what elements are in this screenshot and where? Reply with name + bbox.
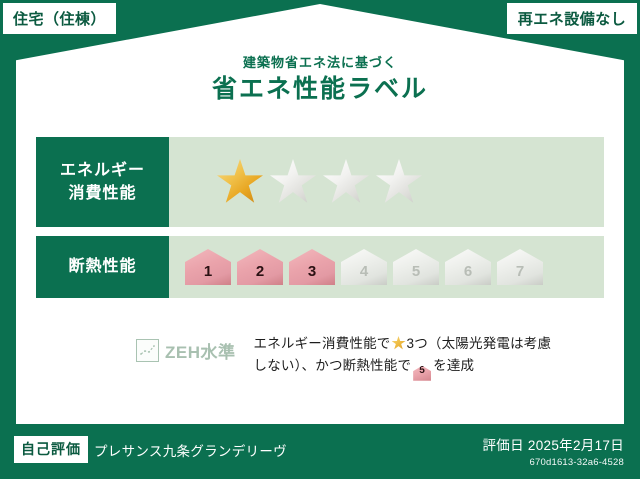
tab-renewable-energy: 再エネ設備なし <box>507 3 637 34</box>
energy-rating-stars <box>169 137 604 227</box>
zeh-desc-part1: エネルギー消費性能で <box>254 336 391 351</box>
energy-key-line1: エネルギー <box>60 162 145 179</box>
insulation-performance-label-key: 断熱性能 <box>36 236 169 298</box>
grade-badge-3: 3 <box>289 249 335 285</box>
energy-performance-label-key: エネルギー 消費性能 <box>36 137 169 227</box>
footer-left-group: 自己評価 プレサンス九条グランデリーヴ <box>14 436 287 463</box>
energy-performance-label: 住宅（住棟） 再エネ設備なし 建築物省エネ法に基づく 省エネ性能ラベル エネルギ… <box>0 0 640 479</box>
label-footer: 自己評価 プレサンス九条グランデリーヴ 評価日 2025年2月17日 670d1… <box>0 424 640 479</box>
evaluation-id: 670d1613-32a6-4528 <box>482 457 624 468</box>
grade-badge-1: 1 <box>185 249 231 285</box>
zeh-standard-block: ZEH水準 エネルギー消費性能で3つ（太陽光発電は考慮しない）、かつ断熱性能で5… <box>36 333 604 381</box>
insulation-key-label: 断熱性能 <box>68 255 136 278</box>
tab-renewable-label: 再エネ設備なし <box>518 8 627 29</box>
evaluation-date: 評価日 2025年2月17日 <box>482 434 624 454</box>
grade-badge-4: 4 <box>341 249 387 285</box>
grade-badge-2: 2 <box>237 249 283 285</box>
insulation-grade-scale: 1 2 3 4 5 6 7 <box>169 236 604 298</box>
zeh-desc-part3: を達成 <box>433 358 474 373</box>
inline-grade-badge: 5 <box>413 366 431 381</box>
grade-badge-7: 7 <box>497 249 543 285</box>
grade-badge-6: 6 <box>445 249 491 285</box>
star-icon-1 <box>217 159 263 205</box>
grade-badge-5-label: 5 <box>412 263 420 280</box>
zeh-chart-icon <box>136 339 159 362</box>
zeh-mark-label: ZEH水準 <box>165 338 236 363</box>
inline-grade-badge-label: 5 <box>419 363 425 380</box>
grade-badge-3-label: 3 <box>308 263 316 280</box>
grade-badge-2-label: 2 <box>256 263 264 280</box>
self-evaluation-badge: 自己評価 <box>14 436 88 463</box>
star-icon-4 <box>376 159 422 205</box>
grade-badge-4-label: 4 <box>360 263 368 280</box>
building-name: プレサンス九条グランデリーヴ <box>94 440 287 460</box>
inline-star-icon <box>392 336 406 350</box>
zeh-description: エネルギー消費性能で3つ（太陽光発電は考慮しない）、かつ断熱性能で5を達成 <box>254 333 554 381</box>
grade-badge-1-label: 1 <box>204 263 212 280</box>
energy-performance-row: エネルギー 消費性能 <box>36 137 604 227</box>
tab-dwelling-label: 住宅（住棟） <box>13 8 106 29</box>
insulation-performance-row: 断熱性能 1 2 3 4 5 6 7 <box>36 236 604 298</box>
grade-badge-6-label: 6 <box>464 263 472 280</box>
footer-right-group: 評価日 2025年2月17日 670d1613-32a6-4528 <box>482 434 624 468</box>
energy-key-line2: 消費性能 <box>68 185 136 202</box>
grade-badge-7-label: 7 <box>516 263 524 280</box>
star-icon-3 <box>323 159 369 205</box>
grade-badge-5: 5 <box>393 249 439 285</box>
zeh-mark: ZEH水準 <box>136 338 236 363</box>
star-icon-2 <box>270 159 316 205</box>
tab-dwelling-type: 住宅（住棟） <box>3 3 116 34</box>
